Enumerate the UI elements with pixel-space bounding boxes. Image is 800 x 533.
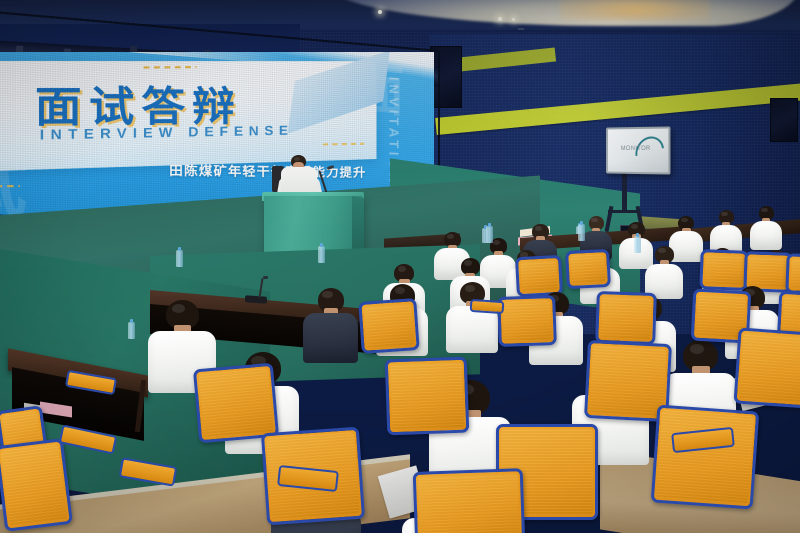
wall-monitor: MONITOR <box>606 126 670 174</box>
audience-member <box>446 282 498 353</box>
auditorium-seat[interactable] <box>497 295 557 347</box>
water-bottle <box>128 322 135 339</box>
auditorium-seat[interactable] <box>565 249 611 289</box>
podium-side-panel <box>352 196 364 256</box>
audience-member <box>750 206 783 250</box>
auditorium-seat[interactable] <box>413 468 526 533</box>
person-torso <box>303 313 358 363</box>
dashed-accent <box>144 66 197 69</box>
person-torso <box>750 221 783 251</box>
auditorium-seat[interactable] <box>733 327 800 408</box>
auditorium-seat[interactable] <box>0 438 73 532</box>
ceiling-light <box>378 10 382 14</box>
wall-speaker-icon <box>770 98 798 142</box>
auditorium-seat[interactable] <box>699 249 748 291</box>
desk-microphone-base <box>245 295 267 304</box>
water-bottle <box>634 236 641 253</box>
monitor-stand <box>622 168 627 212</box>
water-bottle <box>318 246 325 263</box>
monitor-arc-graphic <box>630 131 670 174</box>
ceiling-light <box>498 17 502 21</box>
water-bottle <box>486 226 493 243</box>
auditorium-seat[interactable] <box>515 255 563 297</box>
slide-subtitle-cn: 田陈煤矿年轻干部素质能力提升 <box>169 161 366 181</box>
ceiling-warm-glow <box>560 0 710 20</box>
seat-armrest[interactable] <box>470 299 505 314</box>
ceiling-light <box>512 18 515 21</box>
monitor-brand-text: MONITOR <box>621 146 651 152</box>
audience-member <box>303 288 358 363</box>
microphone-icon <box>263 276 268 279</box>
auditorium-seat[interactable] <box>193 363 279 444</box>
auditorium-seat[interactable] <box>785 253 800 294</box>
conference-hall-photo: 面 试 面试答辩 INTERVIEW DEFENSE 田陈煤矿年轻干部素质能力提… <box>0 0 800 533</box>
auditorium-seat[interactable] <box>358 298 419 354</box>
auditorium-seat[interactable] <box>595 291 657 345</box>
auditorium-seat[interactable] <box>651 405 760 510</box>
water-bottle <box>578 224 585 241</box>
audience-member <box>645 246 684 299</box>
water-bottle <box>176 250 183 267</box>
auditorium-seat[interactable] <box>385 357 470 436</box>
